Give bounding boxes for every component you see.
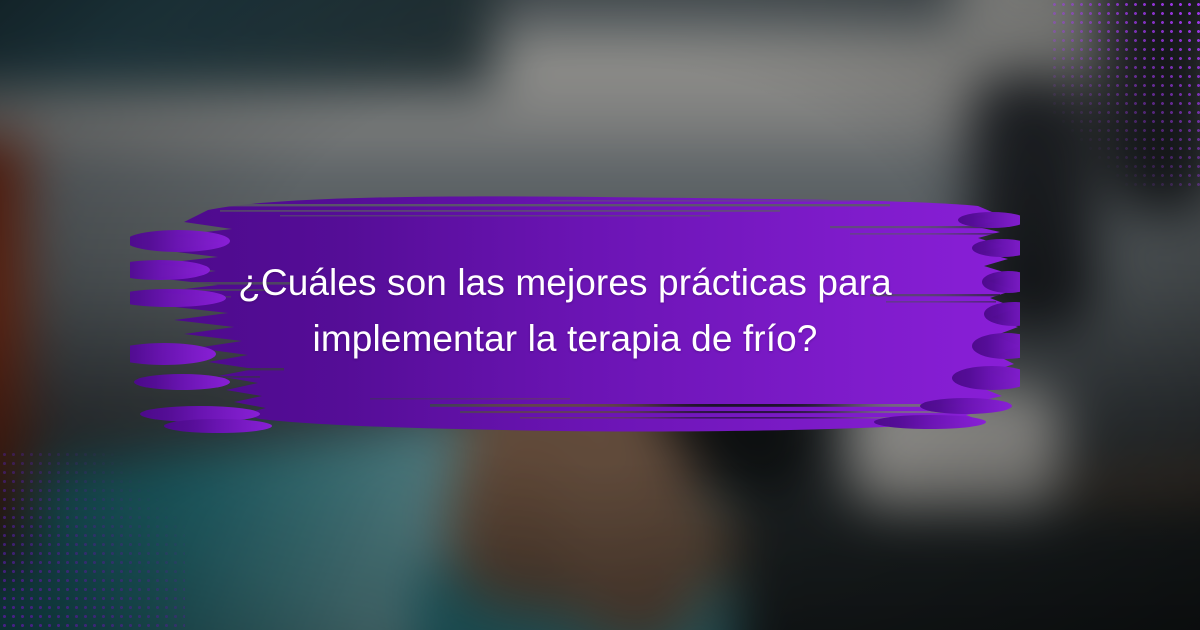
banner-card: ¿Cuáles son las mejores prácticas para i… xyxy=(0,0,1200,630)
headline-line-1: ¿Cuáles son las mejores prácticas para xyxy=(238,262,892,303)
headline-line-2: implementar la terapia de frío? xyxy=(150,311,980,367)
halftone-dots-bottom-left-icon xyxy=(0,450,185,630)
headline: ¿Cuáles son las mejores prácticas para i… xyxy=(150,255,980,367)
halftone-dots-top-right-icon xyxy=(1050,0,1200,190)
